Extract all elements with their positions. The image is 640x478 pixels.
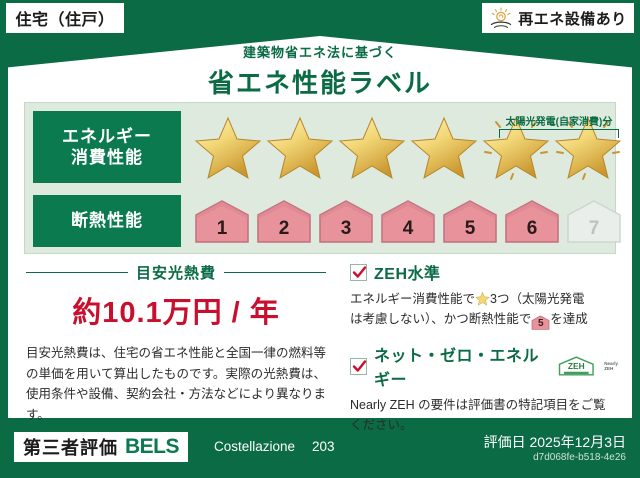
star-filled <box>409 112 479 182</box>
zeh-netzero-checkbox[interactable] <box>350 358 367 375</box>
insulation-performance-row: 断熱性能 1 2 <box>33 195 623 247</box>
check-icon <box>352 265 367 280</box>
bels-badge: 第三者評価 BELS <box>14 432 188 462</box>
energy-cost-section: 目安光熱費 約10.1万円 / 年 目安光熱費は、住宅の省エネ性能と全国一律の燃… <box>26 262 326 426</box>
zeh-standard-heading: ZEH水準 <box>350 260 618 284</box>
zeh-body-part2: は考慮しない）、かつ断熱性能で <box>350 312 531 326</box>
evaluation-date: 評価日 2025年12月3日 <box>484 432 626 452</box>
insulation-grade: 3 <box>317 198 375 244</box>
insulation-grade-value: 3 <box>341 218 352 240</box>
insulation-grade: 2 <box>255 198 313 244</box>
building-number: 203 <box>312 439 335 454</box>
energy-performance-row: エネルギー 消費性能 <box>33 111 623 183</box>
energy-tag-line1: エネルギー <box>62 126 152 147</box>
star-filled <box>265 112 335 182</box>
inline-grade-value: 5 <box>538 318 544 329</box>
zeh-netzero-title: ネット・ゼロ・エネルギー <box>374 342 549 390</box>
title-main: 省エネ性能ラベル <box>0 63 640 100</box>
bels-jp-label: 第三者評価 <box>23 434 118 460</box>
renewable-energy-text: 再エネ設備あり <box>518 8 627 29</box>
insulation-grade: 4 <box>379 198 437 244</box>
zeh-logo-subtext: Nearly ZEH <box>604 361 618 371</box>
energy-cost-value: 約10.1万円 / 年 <box>26 289 326 331</box>
building-name: Costellazione <box>214 439 295 454</box>
insulation-grade-value: 2 <box>279 218 290 240</box>
energy-performance-label: 住宅（住戸） 再エネ設備あり 建築物省エネ法に基づく 省エネ性能ラベル <box>0 0 640 478</box>
bels-en-label: BELS <box>125 435 179 459</box>
evaluation-id: d7d068fe-b518-4e26 <box>533 452 626 463</box>
svg-text:ZEH: ZEH <box>568 361 585 371</box>
label-title: 建築物省エネ法に基づく 省エネ性能ラベル <box>0 42 640 100</box>
insulation-grade-value: 7 <box>589 218 600 240</box>
zeh-body-part3: を達成 <box>550 312 588 326</box>
energy-cost-heading-text: 目安光熱費 <box>136 262 216 283</box>
energy-cost-note: 目安光熱費は、住宅の省エネ性能と全国一律の燃料等の単価を用いて算出したものです。… <box>26 343 326 426</box>
energy-performance-tag: エネルギー 消費性能 <box>33 111 181 183</box>
insulation-grade-value: 1 <box>217 218 228 240</box>
label-footer: 第三者評価 BELS Costellazione 203 評価日 2025年12… <box>0 424 640 478</box>
zeh-standard-block: ZEH水準 エネルギー消費性能で3つ（太陽光発電 は考慮しない）、かつ断熱性能で… <box>350 260 618 330</box>
heading-rule-right <box>224 272 326 273</box>
heading-rule-left <box>26 272 128 273</box>
solar-annotation-text: 太陽光発電(自家消費)分 <box>493 113 625 128</box>
zeh-logo-icon: ZEH <box>556 354 597 378</box>
insulation-grade: 5 <box>441 198 499 244</box>
check-icon <box>352 359 367 374</box>
zeh-body-star-text: 3つ（太陽光発電 <box>490 292 584 306</box>
zeh-section: ZEH水準 エネルギー消費性能で3つ（太陽光発電 は考慮しない）、かつ断熱性能で… <box>350 260 618 447</box>
energy-cost-heading: 目安光熱費 <box>26 262 326 283</box>
star-filled <box>337 112 407 182</box>
zeh-standard-title: ZEH水準 <box>374 260 441 284</box>
inline-grade-badge: 5 <box>531 315 550 330</box>
energy-tag-line2: 消費性能 <box>71 147 143 168</box>
performance-panel: エネルギー 消費性能 <box>24 102 616 254</box>
inline-star-icon <box>475 291 490 306</box>
zeh-netzero-block: ネット・ゼロ・エネルギー ZEH Nearly ZEH Nearly ZEH の… <box>350 342 618 435</box>
title-subtitle: 建築物省エネ法に基づく <box>0 42 640 61</box>
solar-annotation-bracket <box>499 129 619 138</box>
insulation-grade: 6 <box>503 198 561 244</box>
zeh-standard-body: エネルギー消費性能で3つ（太陽光発電 は考慮しない）、かつ断熱性能で5を達成 <box>350 289 618 330</box>
insulation-grade: 1 <box>193 198 251 244</box>
building-type-badge: 住宅（住戸） <box>6 3 124 33</box>
insulation-grade-inactive: 7 <box>565 198 623 244</box>
insulation-grade-scale: 1 2 3 <box>193 198 623 244</box>
zeh-logo-sub-line2: ZEH <box>604 366 613 371</box>
sun-icon <box>489 7 513 29</box>
star-filled <box>193 112 263 182</box>
zeh-standard-checkbox[interactable] <box>350 264 367 281</box>
zeh-netzero-heading: ネット・ゼロ・エネルギー ZEH Nearly ZEH <box>350 342 618 390</box>
insulation-grade-value: 5 <box>465 218 476 240</box>
insulation-grade-value: 4 <box>403 218 414 240</box>
insulation-grade-value: 6 <box>527 218 538 240</box>
zeh-body-part1: エネルギー消費性能で <box>350 292 475 306</box>
insulation-tag-label: 断熱性能 <box>71 210 143 231</box>
insulation-performance-tag: 断熱性能 <box>33 195 181 247</box>
renewable-energy-badge: 再エネ設備あり <box>482 3 634 33</box>
building-type-text: 住宅（住戸） <box>15 6 114 30</box>
